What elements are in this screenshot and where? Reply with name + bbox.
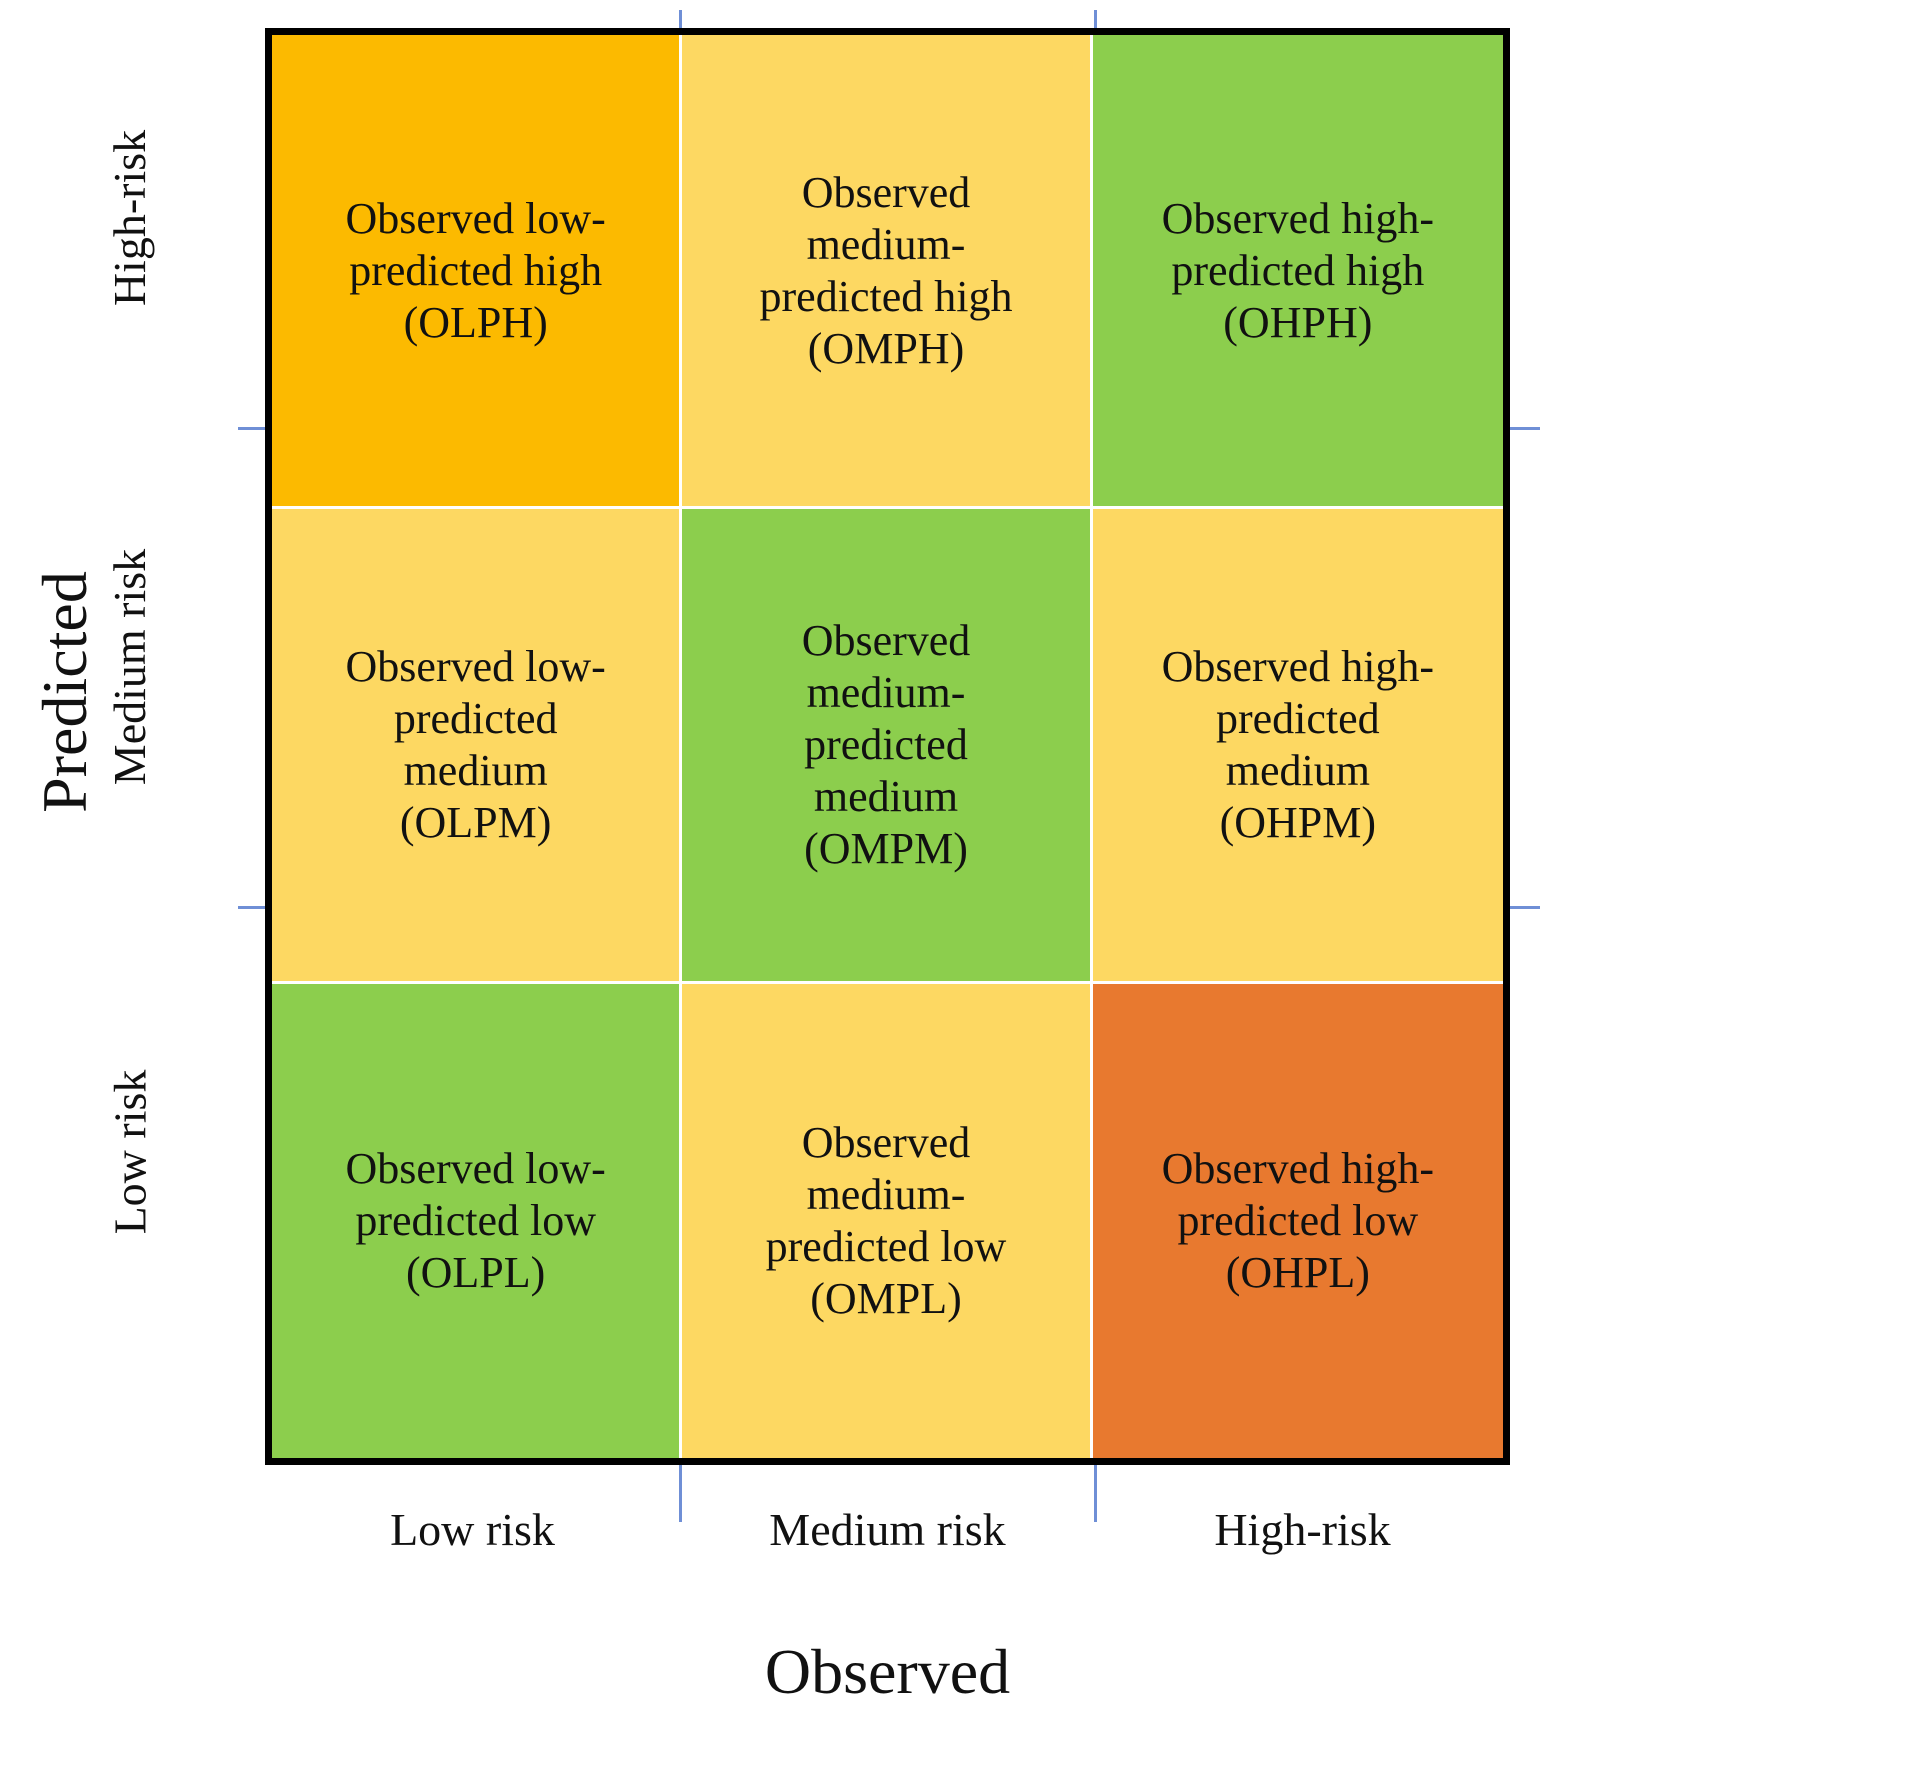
y-axis-tick-label: Medium risk: [107, 549, 153, 785]
x-axis-tick-medium-risk: Medium risk: [680, 1490, 1095, 1570]
matrix-cell-ompl[interactable]: Observed medium- predicted low (OMPL): [682, 984, 1089, 1458]
matrix-cell-ohph[interactable]: Observed high- predicted high (OHPH): [1093, 35, 1503, 506]
y-axis-tick-label: Low risk: [107, 1070, 153, 1235]
confusion-matrix: Observed low- predicted high (OLPH) Obse…: [265, 28, 1510, 1465]
matrix-cell-ohpm[interactable]: Observed high- predicted medium (OHPM): [1093, 509, 1503, 980]
x-axis-tick-high-risk: High-risk: [1095, 1490, 1510, 1570]
matrix-cell-olpl[interactable]: Observed low- predicted low (OLPL): [272, 984, 679, 1458]
matrix-cell-olph[interactable]: Observed low- predicted high (OLPH): [272, 35, 679, 506]
y-axis-title: Predicted: [33, 542, 97, 842]
x-axis-title: Observed: [265, 1640, 1510, 1704]
matrix-cell-olpm[interactable]: Observed low- predicted medium (OLPM): [272, 509, 679, 980]
matrix-cell-ompm[interactable]: Observed medium- predicted medium (OMPM): [682, 509, 1089, 980]
matrix-cell-ohpl[interactable]: Observed high- predicted low (OHPL): [1093, 984, 1503, 1458]
matrix-cell-omph[interactable]: Observed medium- predicted high (OMPH): [682, 35, 1089, 506]
x-axis-tick-low-risk: Low risk: [265, 1490, 680, 1570]
y-axis-tick-label: High-risk: [107, 130, 153, 306]
